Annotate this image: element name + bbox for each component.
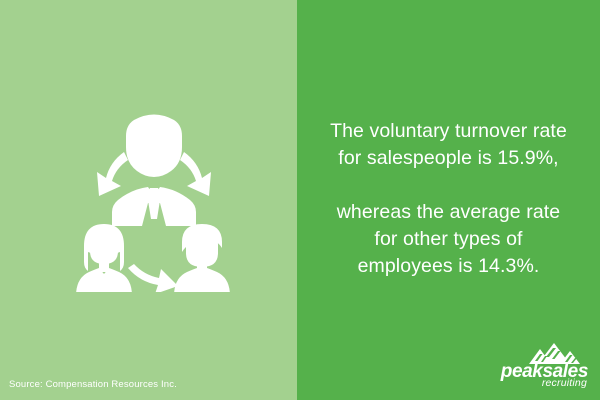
- arrow-left: [97, 152, 128, 196]
- statement-line-4: for other types of: [309, 226, 588, 253]
- logo-tagline: recruiting: [542, 378, 587, 389]
- statement-line-1: The voluntary turnover rate: [309, 118, 588, 145]
- right-panel: The voluntary turnover rate for salespeo…: [297, 0, 600, 400]
- left-panel: Source: Compensation Resources Inc.: [0, 0, 297, 400]
- infographic-canvas: Source: Compensation Resources Inc. The …: [0, 0, 600, 400]
- person-bottom-left-woman: [76, 224, 132, 292]
- statement-line-2: for salespeople is 15.9%,: [309, 145, 588, 172]
- statement-line-3: whereas the average rate: [309, 199, 588, 226]
- statement-block: The voluntary turnover rate for salespeo…: [309, 118, 588, 280]
- person-bottom-right-man: [174, 224, 230, 292]
- peaksales-logo: peaksales recruiting: [492, 342, 588, 390]
- employee-turnover-rotation-icon: [72, 108, 236, 292]
- arrow-bottom: [128, 264, 178, 292]
- statement-line-5: employees is 14.3%.: [309, 253, 588, 280]
- source-credit: Source: Compensation Resources Inc.: [9, 379, 177, 391]
- person-top-businessman: [112, 115, 196, 227]
- statement-spacer: [309, 172, 588, 199]
- arrow-right: [180, 152, 211, 196]
